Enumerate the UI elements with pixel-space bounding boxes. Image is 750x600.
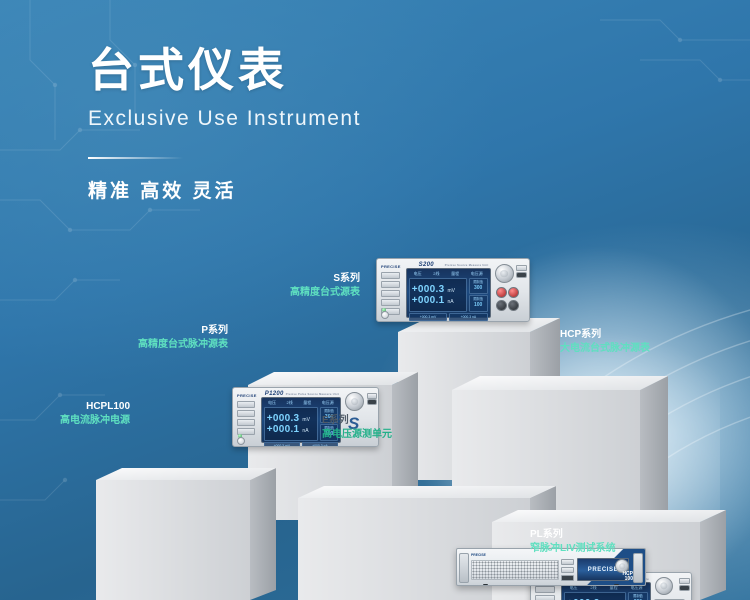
s200-readout-unit: mV [447, 288, 455, 294]
label-e-series-desc: 高电压源测单元 [322, 428, 452, 442]
label-p-series-title: P系列 [108, 324, 228, 338]
p1200-readout-panel: +000.3 mV +000.1 nA [264, 407, 318, 441]
p1200-rotary-knob[interactable] [345, 392, 364, 411]
p1200-screen-tabs[interactable]: 电压 2线 量程 电压源 [264, 400, 338, 406]
s200-softkey[interactable] [381, 299, 400, 306]
hcp100-foot [614, 584, 619, 586]
s200-model: S200 [419, 262, 434, 268]
label-hcpl100-title: HCPL100 [10, 400, 130, 414]
s200-terminal-red[interactable] [496, 287, 507, 298]
pl201-function-button[interactable] [679, 578, 690, 584]
hero-banner: 台式仪表 Exclusive Use Instrument 精准 高效 灵活 [0, 0, 750, 600]
p1200-brand: PRECISE [237, 393, 257, 398]
s200-tab[interactable]: 量程 [451, 271, 459, 277]
s200-limit-value: 300 [470, 285, 487, 293]
pl201-readout-panel: +000.3 mV +000.1 nA [564, 592, 626, 600]
hcp100-model-badge: HCP 100 [622, 572, 633, 582]
s200-brand: PRECISE [381, 264, 401, 269]
label-pl-series: PL系列 窄脉冲LIV测试系统 [530, 528, 680, 555]
s200-readout-unit: nA [447, 299, 453, 305]
s200-limit-label: 限制值 [473, 297, 483, 301]
s200-model-sub: Preicse Source Measure Unit [445, 264, 489, 267]
pl201-softkey[interactable] [535, 595, 555, 600]
label-hcpl100: HCPL100 高电流脉冲电源 [10, 400, 130, 427]
hcp100-rack-ear-left [459, 553, 469, 583]
label-pl-series-desc: 窄脉冲LIV测试系统 [530, 542, 680, 556]
pl201-softkey[interactable] [535, 586, 555, 593]
s200-rotary-knob[interactable] [495, 264, 514, 283]
s200-readout-value: +000.1 [412, 295, 445, 306]
hcp100-foot [483, 584, 488, 586]
s200-power-button[interactable] [381, 311, 389, 319]
p1200-status-value: +000.3 mV [264, 442, 300, 447]
label-pl-series-title: PL系列 [530, 528, 680, 542]
s200-limit-label: 限制值 [473, 280, 483, 284]
heading-divider [88, 157, 183, 159]
pl201-limit-label: 限制值 [633, 594, 643, 598]
label-hcp-series: HCP系列 大电流台式脉冲源表 [560, 328, 710, 355]
p1200-tab[interactable]: 电压源 [322, 400, 334, 406]
s200-readout-panel: +000.3 mV +000.1 nA [409, 278, 467, 312]
p1200-softkey[interactable] [237, 419, 255, 426]
label-s-series: S系列 高精度台式源表 [240, 272, 360, 299]
s200-usb-port[interactable] [516, 272, 527, 278]
label-s-series-desc: 高精度台式源表 [240, 286, 360, 300]
s200-limit-panel: 限制值 300 限制值 100 [469, 278, 488, 312]
label-e-series-title: E系列 [322, 414, 452, 428]
hcp100-softkey[interactable] [561, 559, 574, 565]
s200-status-bar: +000.3 mV +000.3 nA [409, 313, 488, 321]
p1200-model-sub: Preicse Pulse Source Measure Unit [286, 393, 339, 396]
s200-terminal-black[interactable] [496, 300, 507, 311]
hcp100-rack-ear-right [633, 553, 643, 583]
pl201-limit-chip: 限制值 300 [628, 592, 648, 600]
label-hcpl100-desc: 高电流脉冲电源 [10, 414, 130, 428]
s200-softkey[interactable] [381, 290, 400, 297]
pl201-limit-panel: 限制值 300 限制值 100 [628, 592, 648, 600]
pedestal-hcpl [96, 468, 276, 600]
hcp100-vent-grille [471, 560, 559, 580]
p1200-tab[interactable]: 量程 [303, 400, 311, 406]
p1200-readout-unit: mV [302, 417, 310, 423]
hcp100-usb-port[interactable] [561, 575, 574, 581]
s200-button-column[interactable]: PRECISE [377, 259, 404, 321]
s200-softkey[interactable] [381, 272, 400, 279]
p1200-tab[interactable]: 电压 [268, 400, 276, 406]
label-hcp-series-title: HCP系列 [560, 328, 710, 342]
p1200-model: P1200 [265, 391, 284, 397]
s200-readout-value: +000.3 [412, 284, 445, 295]
instrument-s200[interactable]: PRECISE S200 Preicse Source Measure Unit… [376, 258, 530, 322]
p1200-status-value: +000.3 nA [302, 442, 338, 447]
page-tagline: 精准 高效 灵活 [88, 176, 508, 203]
hero-heading-block: 台式仪表 Exclusive Use Instrument 精准 高效 灵活 [88, 44, 508, 203]
p1200-softkey[interactable] [237, 401, 255, 408]
label-s-series-title: S系列 [240, 272, 360, 286]
hcp100-screen-text: PRECISE [588, 567, 619, 573]
p1200-status-bar: +000.3 mV +000.3 nA [264, 442, 338, 447]
label-e-series: E系列 高电压源测单元 [322, 414, 452, 441]
label-p-series-desc: 高精度台式脉冲源表 [108, 338, 228, 352]
s200-tab[interactable]: 电压源 [471, 271, 483, 277]
s200-terminal-red[interactable] [508, 287, 519, 298]
hcp100-button-column[interactable] [561, 559, 574, 581]
s200-tab[interactable]: 2线 [433, 271, 439, 277]
s200-limit-chip: 限制值 300 [469, 278, 488, 294]
p1200-tab[interactable]: 2线 [287, 400, 293, 406]
hcp100-brand: PRECISE [471, 553, 486, 557]
s200-softkey[interactable] [381, 281, 400, 288]
s200-status-value: +000.3 nA [449, 313, 487, 321]
hcp100-model-number: 100 [622, 577, 633, 582]
label-p-series: P系列 高精度台式脉冲源表 [108, 324, 228, 351]
p1200-readout-unit: nA [302, 428, 308, 434]
pl201-rotary-knob[interactable] [655, 577, 673, 595]
s200-screen[interactable]: 电压 2线 量程 电压源 +000.3 mV +000.1 nA [406, 268, 491, 318]
pl201-usb-port[interactable] [679, 585, 690, 591]
s200-limit-chip: 限制值 100 [469, 295, 488, 311]
p1200-softkey[interactable] [237, 410, 255, 417]
page-title: 台式仪表 [88, 44, 508, 97]
s200-status-value: +000.3 mV [409, 313, 447, 321]
p1200-power-button[interactable] [237, 437, 245, 445]
label-hcp-series-desc: 大电流台式脉冲源表 [560, 342, 710, 356]
s200-tab[interactable]: 电压 [414, 271, 422, 277]
s200-terminal-black[interactable] [508, 300, 519, 311]
hcp100-softkey[interactable] [561, 567, 574, 573]
page-subtitle-en: Exclusive Use Instrument [88, 107, 508, 131]
pl201-control-panel[interactable] [653, 573, 691, 600]
p1200-readout-value: +000.3 [267, 413, 300, 424]
s200-limit-value: 100 [470, 302, 487, 310]
s200-screen-tabs[interactable]: 电压 2线 量程 电压源 [409, 271, 488, 277]
p1200-readout-value: +000.1 [267, 424, 300, 435]
p1200-button-column[interactable]: PRECISE [233, 388, 259, 446]
s200-display-area: S200 Preicse Source Measure Unit 电压 2线 量… [404, 259, 493, 321]
s200-function-button[interactable] [516, 265, 527, 271]
p1200-limit-label: 限制值 [324, 409, 334, 413]
s200-control-panel[interactable] [493, 259, 529, 321]
p1200-usb-port[interactable] [367, 399, 377, 405]
